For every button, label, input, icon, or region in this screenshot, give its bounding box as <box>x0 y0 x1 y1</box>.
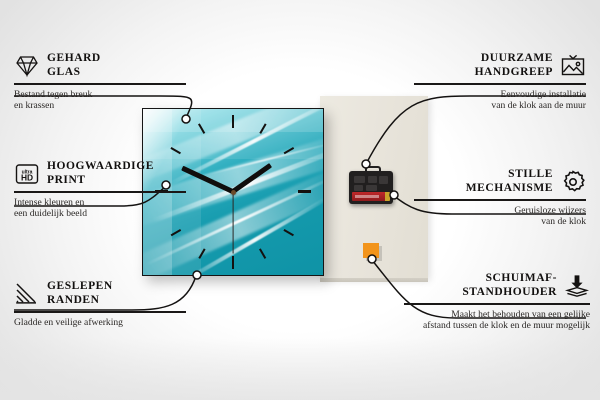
feature-subtitle: Maakt het behouden van een gelijke afsta… <box>404 309 590 332</box>
divider <box>404 303 590 305</box>
feature-title: GESLEPEN RANDEN <box>47 280 113 307</box>
bevelled-edges-icon <box>14 281 40 307</box>
feature-hoogwaardige-print: ultra HD HOOGWAARDIGE PRINT Intense kleu… <box>14 160 186 220</box>
feature-title: GEHARD GLAS <box>47 52 101 79</box>
product-infographic: GEHARD GLAS Bestand tegen breuk en krass… <box>0 0 600 400</box>
feature-duurzame-handgreep: DUURZAME HANDGREEP Eenvoudige installati… <box>414 52 586 112</box>
clock-mechanism <box>349 166 393 204</box>
ultra-hd-icon: ultra HD <box>14 161 40 187</box>
clock-second-hand <box>232 192 233 254</box>
feature-subtitle: Eenvoudige installatie van de klok aan d… <box>414 89 586 112</box>
feature-subtitle: Bestand tegen breuk en krassen <box>14 89 186 112</box>
foam-spacer-icon <box>564 273 590 299</box>
feature-subtitle: Intense kleuren en een duidelijk beeld <box>14 197 186 220</box>
foam-spacer <box>363 243 379 258</box>
divider <box>414 199 586 201</box>
feature-title: SCHUIMAF- STANDHOUDER <box>462 272 557 299</box>
svg-text:HD: HD <box>21 172 33 182</box>
divider <box>14 83 186 85</box>
feature-subtitle: Geruisloze wijzers van de klok <box>414 205 586 228</box>
floor-shadow <box>0 338 600 400</box>
feature-title: DUURZAME HANDGREEP <box>475 52 553 79</box>
divider <box>14 311 186 313</box>
divider <box>414 83 586 85</box>
picture-frame-icon <box>560 53 586 79</box>
feature-gehard-glas: GEHARD GLAS Bestand tegen breuk en krass… <box>14 52 186 112</box>
diamond-icon <box>14 53 40 79</box>
feature-title: STILLE MECHANISME <box>466 168 553 195</box>
feature-schuimafstandhouder: SCHUIMAF- STANDHOUDER Maakt het behouden… <box>404 272 590 332</box>
feature-stille-mechanisme: STILLE MECHANISME Geruisloze wijzers van… <box>414 168 586 228</box>
feature-subtitle: Gladde en veilige afwerking <box>14 317 186 329</box>
clock-center-pin <box>231 190 236 195</box>
feature-geslepen-randen: GESLEPEN RANDEN Gladde en veilige afwerk… <box>14 280 186 328</box>
divider <box>14 191 186 193</box>
feature-title: HOOGWAARDIGE PRINT <box>47 160 154 187</box>
gear-icon <box>560 169 586 195</box>
